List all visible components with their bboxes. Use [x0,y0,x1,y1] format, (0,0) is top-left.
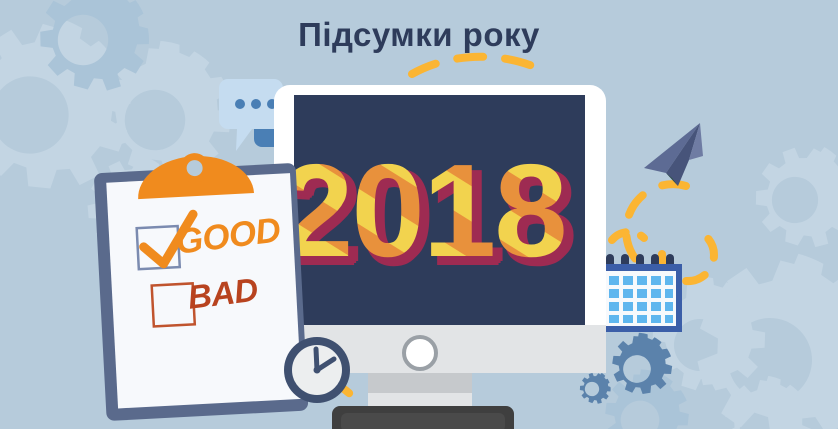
illustration-layer: 2018 2018 2018 2018 [0,0,838,429]
poster-canvas: 2018 2018 2018 2018 [0,0,838,429]
year-graphic: 2018 2018 2018 2018 [280,137,576,293]
calendar-icon [598,254,682,332]
paper-plane-icon [644,123,703,186]
clipboard-illustration [93,148,308,421]
monitor-home-button[interactable] [404,337,436,369]
keyboard-icon [332,406,514,429]
monitor-stand-neck [368,373,472,393]
clipboard-paper [106,173,302,408]
year-face: 2018 [280,137,566,284]
clock-icon [284,337,350,403]
typing-dots-icon [235,99,277,109]
